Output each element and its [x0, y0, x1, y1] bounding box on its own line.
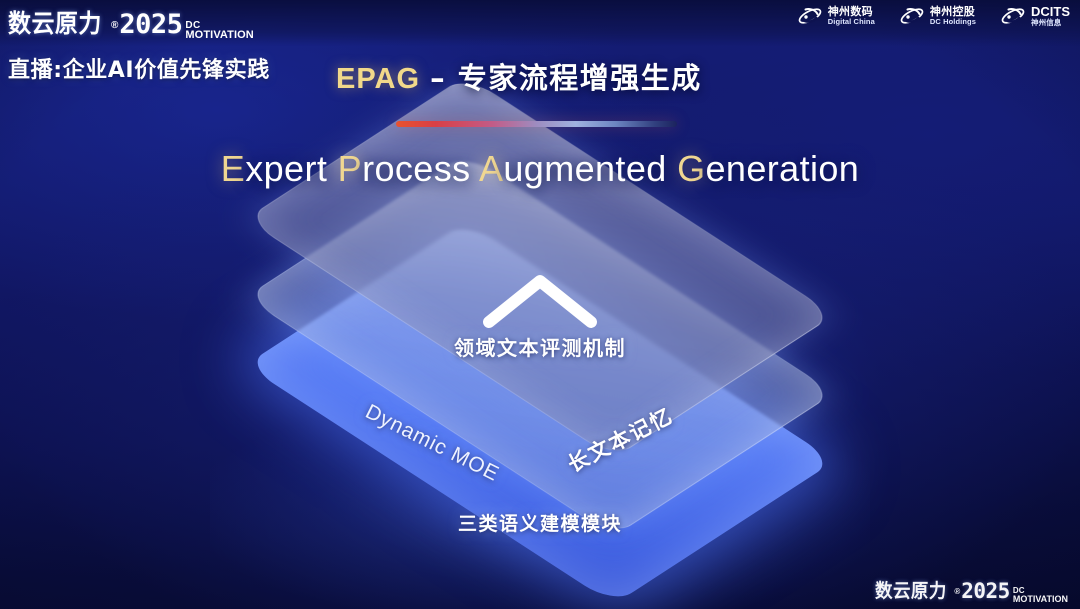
footer-logo-dcm: DC MOTIVATION	[1013, 587, 1068, 603]
title-cap-e: E	[221, 148, 245, 189]
footer-logo-motivation: MOTIVATION	[1013, 595, 1068, 603]
partner-name-en: Digital China	[828, 18, 875, 26]
event-logo-registered: ®	[111, 20, 118, 31]
layer-top-label: 领域文本评测机制	[0, 332, 1080, 361]
swirl-icon	[899, 5, 925, 27]
live-subtitle: 直播:企业AI价值先锋实践	[8, 52, 270, 84]
chevron-up-icon	[481, 272, 599, 330]
title-rest-augmented: ugmented	[503, 148, 666, 189]
title-rest-process: rocess	[362, 148, 470, 189]
epag-abbreviation: EPAG	[336, 63, 420, 95]
title-cap-a: A	[479, 148, 503, 189]
event-logo: 数云原力 ® 2025 DC MOTIVATION	[8, 4, 254, 40]
title-rest-generation: eneration	[706, 148, 860, 189]
partner-text: DCITS 神州信息	[1031, 5, 1070, 27]
event-logo-dcm: DC MOTIVATION	[185, 21, 253, 40]
event-logo-year: 2025	[119, 9, 182, 40]
event-logo-motivation: MOTIVATION	[185, 30, 253, 40]
footer-logo-registered: ®	[954, 587, 960, 596]
footer-logo-year: 2025	[961, 579, 1010, 603]
title-cap-p: P	[338, 148, 362, 189]
partner-text: 神州数码 Digital China	[828, 6, 875, 26]
page-title: Expert Process Augmented Generation	[0, 148, 1080, 190]
footer-watermark-logo: 数云原力 ® 2025 DC MOTIVATION	[875, 576, 1068, 603]
partner-logo-row: 神州数码 Digital China 神州控股 DC Holdings	[797, 5, 1070, 27]
gradient-divider	[396, 121, 677, 127]
title-cap-g: G	[677, 148, 705, 189]
partner-text: 神州控股 DC Holdings	[930, 6, 976, 26]
swirl-icon	[1000, 5, 1026, 27]
swirl-icon	[797, 5, 823, 27]
layer-bottom-label: 三类语义建模模块	[0, 509, 1080, 536]
epag-headline: EPAG – 专家流程增强生成	[336, 55, 702, 97]
partner-name-cn: DCITS	[1031, 5, 1070, 19]
footer-logo-cn: 数云原力	[875, 576, 947, 603]
slide-canvas: 数云原力 ® 2025 DC MOTIVATION 直播:企业AI价值先锋实践 …	[0, 0, 1080, 609]
partner-logo-dc-holdings: 神州控股 DC Holdings	[899, 5, 976, 27]
title-rest-expert: xpert	[245, 148, 327, 189]
partner-logo-digital-china: 神州数码 Digital China	[797, 5, 875, 27]
epag-chinese: – 专家流程增强生成	[430, 61, 702, 95]
partner-name-en: DC Holdings	[930, 18, 976, 26]
partner-logo-dcits: DCITS 神州信息	[1000, 5, 1070, 27]
event-logo-cn: 数云原力	[8, 4, 102, 40]
partner-name-en: 神州信息	[1031, 19, 1070, 27]
